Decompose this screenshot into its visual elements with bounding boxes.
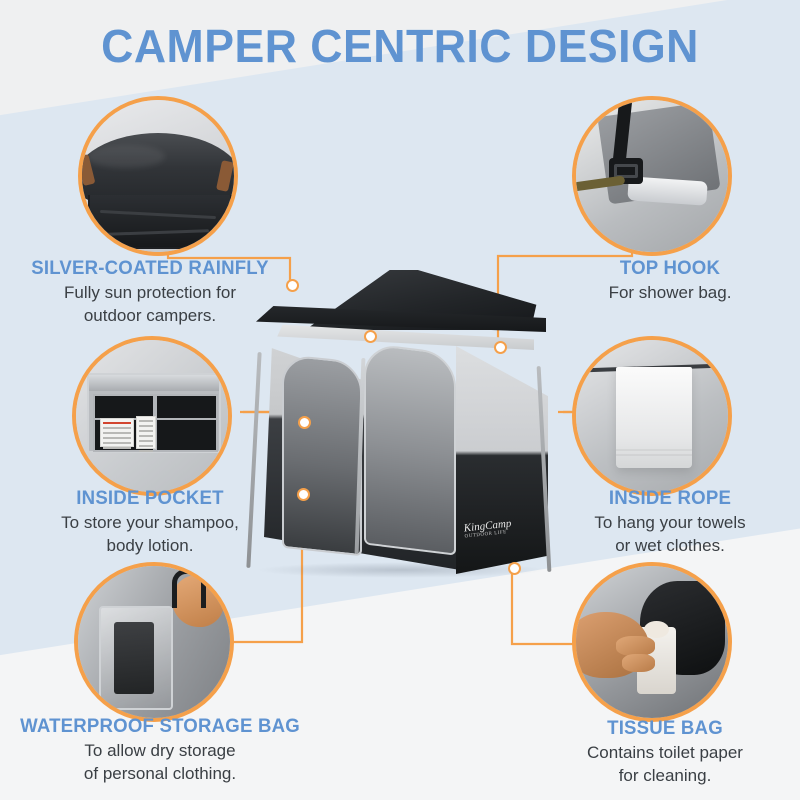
callout-inside-pocket[interactable] [72,336,232,496]
inside-rope-photo [576,340,728,492]
tent-door-right [364,342,456,555]
desc-tissue-bag-line2: for cleaning. [530,765,800,786]
heading-inside-rope: INSIDE ROPE [543,488,798,510]
anchor-dot-inside-pocket-line [298,416,311,429]
callout-silver-coated-rainfly[interactable] [78,96,238,256]
desc-tissue-bag-line1: Contains toilet paper [530,742,800,763]
heading-tissue-bag: TISSUE BAG [533,718,798,740]
product-image-shower-tent: KingCamp OUTDOOR LIFE [246,262,556,592]
caption-tissue-bag: TISSUE BAG Contains toilet paper for cle… [530,718,800,786]
tent-side-panel [456,346,548,574]
desc-inside-rope-line2: or wet clothes. [540,535,800,556]
desc-inside-rope-line1: To hang your towels [540,512,800,533]
caption-inside-rope: INSIDE ROPE To hang your towels or wet c… [540,488,800,556]
anchor-dot-tissue-bag [508,562,521,575]
tent-door-left [282,354,362,556]
desc-waterproof-storage-bag-line2: of personal clothing. [0,763,320,784]
callout-waterproof-storage-bag[interactable] [74,562,234,722]
caption-waterproof-storage-bag: WATERPROOF STORAGE BAG To allow dry stor… [0,716,320,784]
inside-pocket-photo [76,340,228,492]
silver-coated-rainfly-photo [82,100,234,252]
infographic-canvas: CAMPER CENTRIC DESIGN SILVER-CO [0,0,800,800]
anchor-dot-top-hook [364,330,377,343]
anchor-dot-inside-rope [494,341,507,354]
callout-tissue-bag[interactable] [572,562,732,722]
heading-waterproof-storage-bag: WATERPROOF STORAGE BAG [3,716,317,738]
anchor-dot-inside-pocket [297,488,310,501]
tissue-bag-photo [576,566,728,718]
tent-leg-left [246,352,261,568]
desc-waterproof-storage-bag-line1: To allow dry storage [0,740,320,761]
top-hook-photo [576,100,728,252]
waterproof-storage-bag-photo [78,566,230,718]
caption-top-hook: TOP HOOK For shower bag. [540,258,800,303]
anchor-dot-rainfly [286,279,299,292]
desc-top-hook-line1: For shower bag. [540,282,800,303]
callout-top-hook[interactable] [572,96,732,256]
heading-top-hook: TOP HOOK [543,258,798,280]
callout-inside-rope[interactable] [572,336,732,496]
